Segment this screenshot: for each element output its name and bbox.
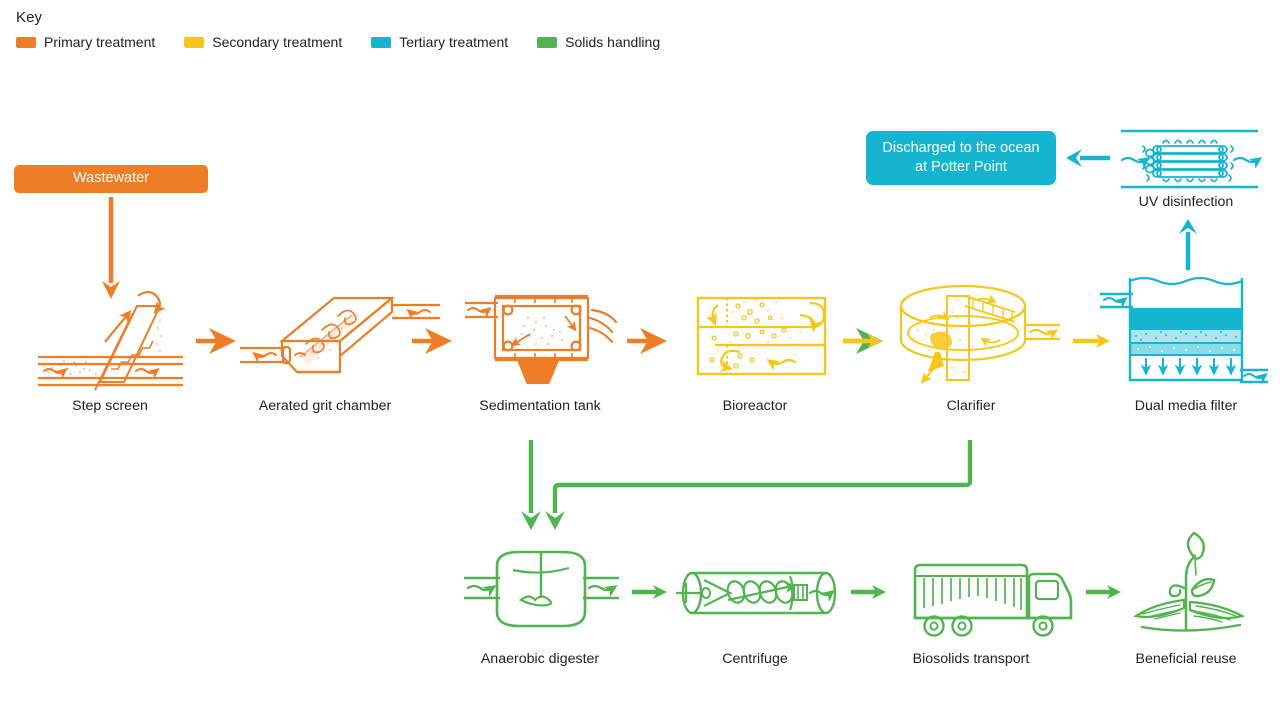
flow-arrow-5 [1073,334,1110,348]
legend-title: Key [16,8,816,28]
process-flow-diagram [0,0,1280,704]
discharge-output-box: Discharged to the ocean at Potter Point [866,131,1056,185]
stage-label-centrifuge: Centrifuge [674,651,836,668]
step-screen-icon [38,292,183,390]
biosolids-truck-icon [915,565,1071,636]
flow-arrow-6 [632,585,667,599]
stage-label-sedimentation-tank: Sedimentation tank [459,398,621,415]
arrow-wastewater-to-step-screen [102,197,120,299]
solids-connector-arrowheads [521,511,565,530]
discharge-label-line1: Discharged to the ocean [882,139,1039,158]
plant-sprout-icon [1136,533,1242,631]
legend: Key Primary treatment Secondary treatmen… [16,8,816,50]
legend-item-primary: Primary treatment [16,34,155,50]
legend-swatch-tertiary-icon [371,37,391,48]
legend-label-primary: Primary treatment [44,34,155,50]
uv-disinfection-icon [1121,131,1258,187]
legend-items: Primary treatment Secondary treatment Te… [16,34,816,50]
wastewater-input-box: Wastewater [14,165,208,193]
dual-media-filter-icon [1100,278,1268,382]
legend-label-secondary: Secondary treatment [212,34,342,50]
aerated-grit-chamber-icon [240,298,440,372]
legend-label-tertiary: Tertiary treatment [399,34,508,50]
flow-arrow-8 [1086,585,1121,599]
anaerobic-digester-icon [464,552,619,626]
legend-swatch-primary-icon [16,37,36,48]
clarifier-icon [901,286,1060,380]
arrow-uv-to-discharge [1066,149,1110,167]
stage-label-aerated-grit: Aerated grit chamber [244,398,406,415]
legend-item-secondary: Secondary treatment [184,34,342,50]
stage-label-beneficial-reuse: Beneficial reuse [1105,651,1267,668]
flow-arrow-4 [843,334,882,348]
wastewater-label: Wastewater [73,169,149,188]
flow-arrow-7 [851,585,886,599]
legend-item-solids: Solids handling [537,34,660,50]
legend-label-solids: Solids handling [565,34,660,50]
stage-label-biosolids-transport: Biosolids transport [890,651,1052,668]
stage-label-uv-disinfection: UV disinfection [1105,194,1267,211]
stage-label-bioreactor: Bioreactor [674,398,836,415]
arrow-filter-to-uv [1179,219,1197,270]
legend-item-tertiary: Tertiary treatment [371,34,508,50]
stage-label-anaerobic-digester: Anaerobic digester [459,651,621,668]
stage-label-dual-media-filter: Dual media filter [1105,398,1267,415]
sedimentation-tank-icon [465,296,616,384]
line-clarifier-to-digester [555,440,970,513]
legend-swatch-secondary-icon [184,37,204,48]
solids-connector-lines [531,440,970,513]
legend-swatch-solids-icon [537,37,557,48]
centrifuge-icon [676,573,835,613]
stage-label-clarifier: Clarifier [890,398,1052,415]
stage-label-step-screen: Step screen [29,398,191,415]
bioreactor-icon [698,298,825,374]
discharge-label-line2: at Potter Point [882,158,1039,177]
